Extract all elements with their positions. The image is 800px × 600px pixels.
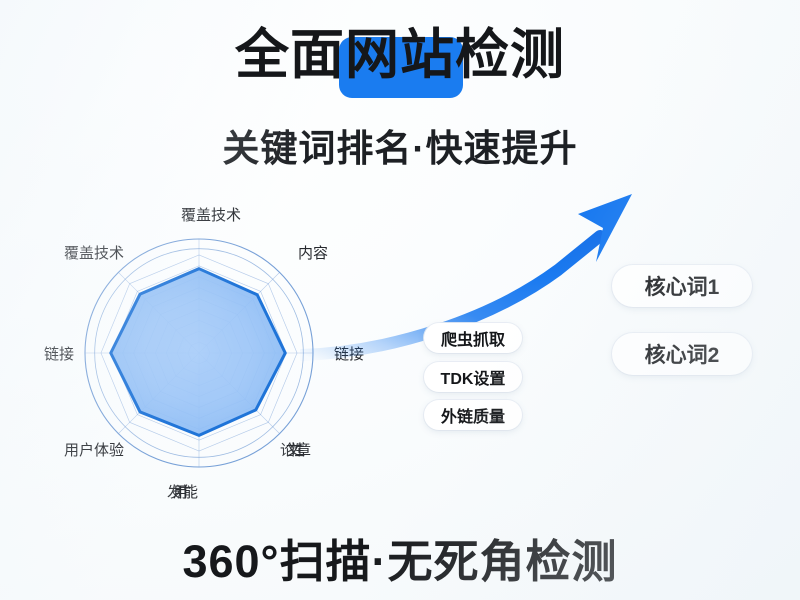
title-line: 全面网站检测 <box>235 28 565 82</box>
radar-axis-label-7: 覆盖技术 <box>64 242 124 263</box>
metric-pill-1[interactable]: TDK设置 <box>424 362 522 392</box>
metric-pill-0-label: 爬虫抓取 <box>441 326 505 350</box>
title-highlight: 网站 <box>345 25 455 85</box>
title-prefix: 全面 <box>235 25 345 85</box>
poster-canvas: 全面网站检测 关键词排名·快速提升 覆盖技术 内容 链接 文章论性 用能发广 <box>0 0 800 600</box>
radar-axis-label-3-b: 论性 <box>280 439 300 460</box>
footer-tagline: 360°扫描·无死角检测 <box>0 525 800 590</box>
radar-axis-label-0: 覆盖技术 <box>181 204 241 225</box>
radar-axis-label-6: 链接 <box>44 343 74 364</box>
keyword-pill-1[interactable]: 核心词2 <box>612 333 752 375</box>
page-title: 全面网站检测 <box>0 28 800 82</box>
metric-pill-2[interactable]: 外链质量 <box>424 400 522 430</box>
metric-pill-2-label: 外链质量 <box>441 403 505 427</box>
radar-axis-label-4: 用能发广 <box>173 481 187 502</box>
keyword-pill-1-label: 核心词2 <box>645 339 720 369</box>
radar-axis-label-4-b: 发广 <box>167 481 187 502</box>
radar-series <box>111 269 286 436</box>
keyword-pill-0[interactable]: 核心词1 <box>612 265 752 307</box>
metric-pill-0[interactable]: 爬虫抓取 <box>424 323 522 353</box>
keyword-pill-0-label: 核心词1 <box>645 271 720 301</box>
title-suffix: 检测 <box>455 25 565 85</box>
radar-axis-label-3: 文章论性 <box>286 439 300 460</box>
metric-pill-1-label: TDK设置 <box>441 365 506 389</box>
radar-axis-label-5: 用户体验 <box>64 439 124 460</box>
page-subtitle: 关键词排名·快速提升 <box>0 118 800 172</box>
